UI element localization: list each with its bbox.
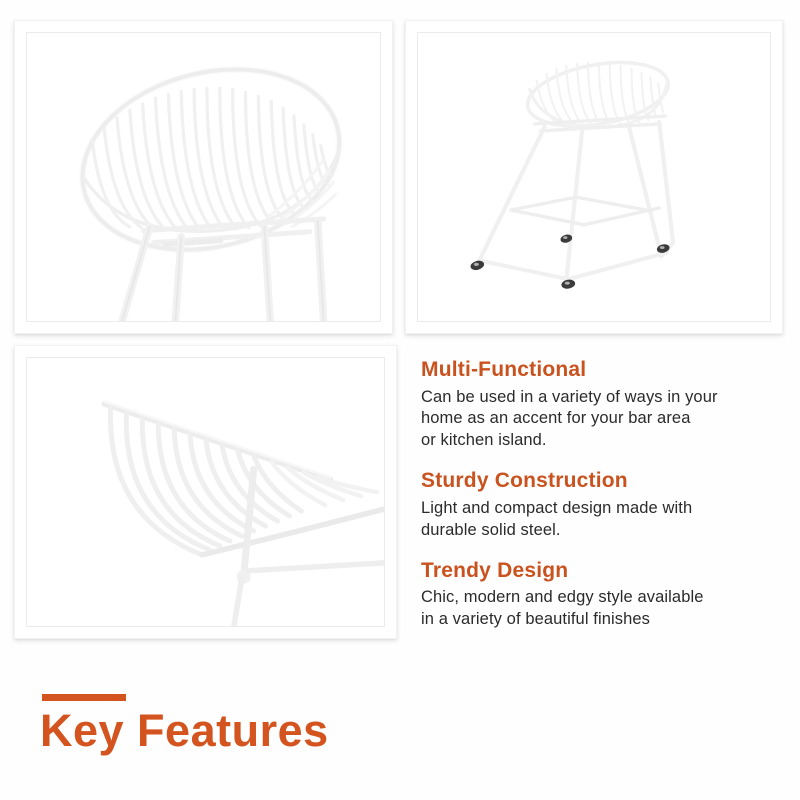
feature-item-sturdy-construction: Sturdy Construction Light and compact de… — [421, 469, 783, 541]
photo-frame-inner — [26, 357, 385, 627]
photo-frame-wire-detail — [14, 345, 397, 639]
wire-detail-closeup-image — [27, 358, 384, 626]
feature-list: Multi-Functional Can be used in a variet… — [421, 358, 783, 631]
feature-title: Sturdy Construction — [421, 469, 783, 493]
key-features-accent-bar — [42, 694, 126, 701]
feature-item-trendy-design: Trendy Design Chic, modern and edgy styl… — [421, 559, 783, 631]
feature-body: Light and compact design made with durab… — [421, 498, 783, 542]
photo-frame-inner — [417, 32, 771, 322]
wire-chair-closeup-image — [27, 33, 380, 322]
feature-body: Chic, modern and edgy style available in… — [421, 587, 783, 631]
wire-barstool-full-image — [418, 33, 770, 322]
feature-title: Multi-Functional — [421, 358, 783, 382]
photo-frame-bar-stool — [405, 20, 783, 334]
product-feature-page: Multi-Functional Can be used in a variet… — [0, 0, 800, 800]
photo-frame-wire-chair — [14, 20, 393, 334]
feature-body: Can be used in a variety of ways in your… — [421, 387, 783, 453]
feature-title: Trendy Design — [421, 559, 783, 583]
feature-item-multi-functional: Multi-Functional Can be used in a variet… — [421, 358, 783, 452]
key-features-title: Key Features — [40, 707, 329, 754]
photo-frame-inner — [26, 32, 381, 322]
